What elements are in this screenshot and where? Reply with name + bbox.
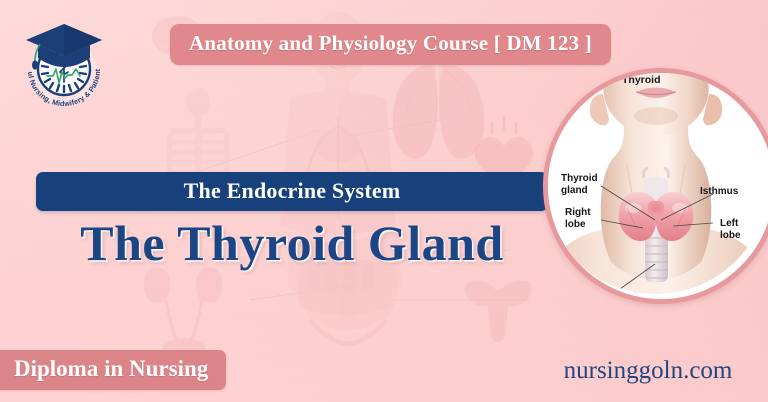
course-title-badge: Anatomy and Physiology Course [ DM 123 ] (170, 24, 611, 65)
subtitle-bar: The Endocrine System (36, 172, 548, 211)
page-title: The Thyroid Gland (36, 217, 548, 269)
course-title-text: Anatomy and Physiology Course [ DM 123 ] (189, 31, 592, 55)
thyroid-anatomy-illustration (543, 68, 768, 294)
gurukul-logo: Gurukul Nursing, Midwifery & Patient Car… (14, 14, 114, 114)
program-badge: Diploma in Nursing (0, 350, 226, 390)
course-banner: Gurukul Nursing, Midwifery & Patient Car… (0, 0, 768, 402)
title-block: The Endocrine System The Thyroid Gland (36, 172, 548, 269)
program-badge-text: Diploma in Nursing (14, 356, 208, 381)
thyroid-anatomy-circle: Thyroid Thyroid gland Right lobe Isthmus… (543, 68, 768, 304)
subtitle-text: The Endocrine System (184, 178, 401, 203)
website-url[interactable]: nursinggoln.com (536, 357, 760, 385)
